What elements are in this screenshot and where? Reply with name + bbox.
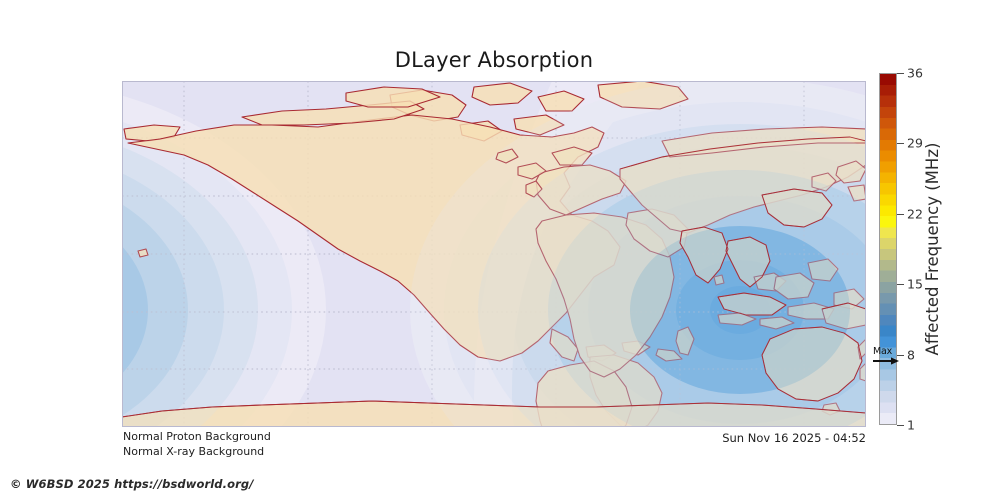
proton-background-note: Normal Proton Background — [123, 430, 271, 445]
colorbar-tick-36 — [897, 73, 904, 74]
colorbar-tick-1 — [897, 425, 904, 426]
world-map-panel — [122, 81, 866, 427]
xray-background-note: Normal X-ray Background — [123, 445, 271, 460]
colorbar-tick-15 — [897, 284, 904, 285]
arrow-right-icon — [873, 357, 899, 365]
colorbar-gradient — [879, 73, 897, 425]
timestamp-label: Sun Nov 16 2025 - 04:52 — [600, 431, 866, 445]
page-title: DLayer Absorption — [0, 48, 988, 72]
colorbar-axis-label: Affected Frequency (MHz) — [920, 73, 946, 425]
coastline-topline-layer — [122, 81, 866, 427]
colorbar: 36 29 22 15 8 1 — [879, 73, 897, 425]
credit-label: © W6BSD 2025 https://bsdworld.org/ — [10, 477, 254, 491]
max-marker-label: Max — [873, 346, 892, 357]
colorbar-tick-label-8: 8 — [907, 347, 915, 362]
colorbar-tick-29 — [897, 143, 904, 144]
max-marker: Max — [872, 346, 908, 366]
colorbar-tick-22 — [897, 214, 904, 215]
background-conditions-notes: Normal Proton Background Normal X-ray Ba… — [123, 430, 271, 459]
colorbar-tick-label-1: 1 — [907, 418, 915, 433]
figure-canvas: DLayer Absorption — [0, 0, 1000, 500]
